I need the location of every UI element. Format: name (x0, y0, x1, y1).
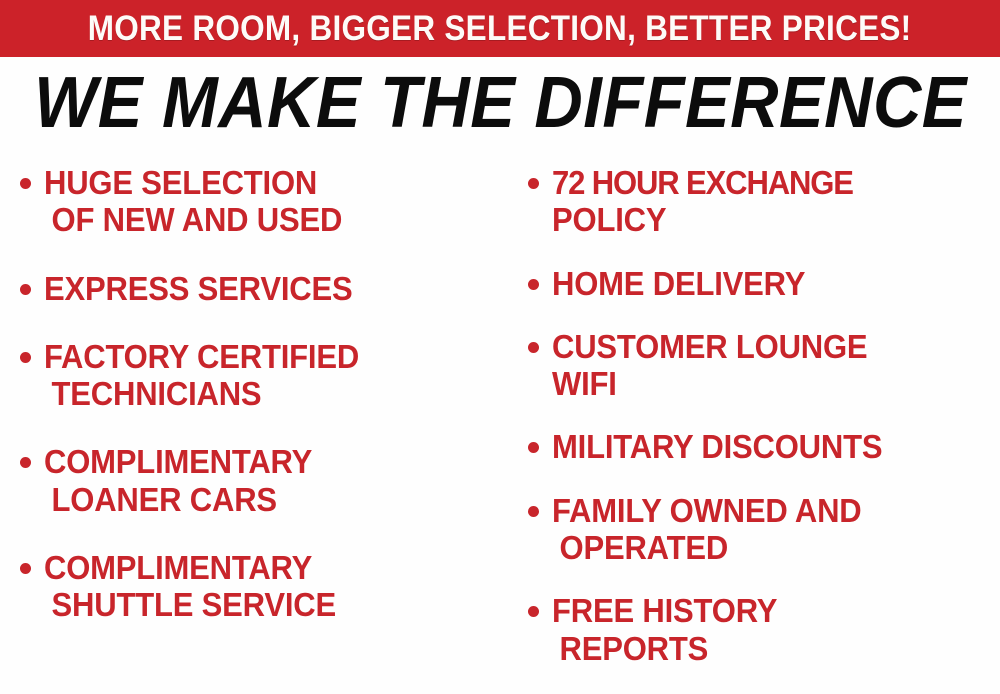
bullet-dot-icon (20, 457, 31, 468)
list-item-text: MILITARY DISCOUNTS (552, 428, 1000, 465)
list-item: COMPLIMENTARY LOANER CARS (20, 443, 510, 518)
list-item: MILITARY DISCOUNTS (528, 428, 1000, 465)
list-item-text: 72 HOUR EXCHANGE POLICY (552, 164, 1000, 239)
benefits-columns: HUGE SELECTION OF NEW AND USED EXPRESS S… (0, 152, 1000, 694)
list-item-line-2: OF NEW AND USED (44, 201, 482, 238)
list-item: COMPLIMENTARY SHUTTLE SERVICE (20, 549, 510, 624)
list-item-text: HOME DELIVERY (552, 265, 1000, 302)
list-item-line-1: FACTORY CERTIFIED (44, 338, 482, 375)
list-item-line-1: HUGE SELECTION (44, 164, 482, 201)
list-item-text: FREE HISTORY REPORTS (552, 592, 1000, 667)
list-item-line-1: 72 HOUR EXCHANGE (552, 164, 973, 201)
list-item-text: FACTORY CERTIFIED TECHNICIANS (44, 338, 510, 413)
list-item: 72 HOUR EXCHANGE POLICY (528, 164, 1000, 239)
list-item-line-1: FREE HISTORY (552, 592, 973, 629)
bullet-dot-icon (528, 342, 539, 353)
bullet-dot-icon (20, 178, 31, 189)
bullet-dot-icon (528, 606, 539, 617)
bullet-dot-icon (20, 563, 31, 574)
banner-headline-text: MORE ROOM, BIGGER SELECTION, BETTER PRIC… (88, 11, 912, 46)
list-item-text: FAMILY OWNED AND OPERATED (552, 492, 1000, 567)
page-title: WE MAKE THE DIFFERENCE (34, 67, 967, 139)
list-item-line-1: FAMILY OWNED AND (552, 492, 973, 529)
list-item: FREE HISTORY REPORTS (528, 592, 1000, 667)
bullet-dot-icon (528, 506, 539, 517)
list-item-line-2: OPERATED (552, 529, 973, 566)
list-item-line-2: LOANER CARS (44, 481, 482, 518)
list-item-text: HUGE SELECTION OF NEW AND USED (44, 164, 510, 239)
list-item-text: CUSTOMER LOUNGE WIFI (552, 328, 1000, 403)
list-item-text: COMPLIMENTARY LOANER CARS (44, 443, 510, 518)
list-item: HOME DELIVERY (528, 265, 1000, 302)
headline-container: WE MAKE THE DIFFERENCE (0, 66, 1000, 140)
list-item-line-1: MILITARY DISCOUNTS (552, 428, 973, 465)
list-item-line-2: POLICY (552, 201, 973, 238)
list-item-line-2: REPORTS (552, 630, 973, 667)
benefits-column-left: HUGE SELECTION OF NEW AND USED EXPRESS S… (0, 152, 510, 694)
bullet-dot-icon (528, 442, 539, 453)
list-item-line-2: TECHNICIANS (44, 375, 482, 412)
bullet-dot-icon (20, 284, 31, 295)
list-item: HUGE SELECTION OF NEW AND USED (20, 164, 510, 239)
list-item-line-1: HOME DELIVERY (552, 265, 973, 302)
bullet-dot-icon (528, 279, 539, 290)
top-banner: MORE ROOM, BIGGER SELECTION, BETTER PRIC… (0, 0, 1000, 57)
list-item: FAMILY OWNED AND OPERATED (528, 492, 1000, 567)
bullet-dot-icon (528, 178, 539, 189)
list-item-line-1: COMPLIMENTARY (44, 549, 482, 586)
list-item-line-1: CUSTOMER LOUNGE (552, 328, 973, 365)
list-item: CUSTOMER LOUNGE WIFI (528, 328, 1000, 403)
list-item-text: EXPRESS SERVICES (44, 270, 510, 307)
bullet-dot-icon (20, 352, 31, 363)
list-item-line-2: WIFI (552, 365, 973, 402)
benefits-column-right: 72 HOUR EXCHANGE POLICY HOME DELIVERY CU… (510, 152, 1000, 694)
list-item-text: COMPLIMENTARY SHUTTLE SERVICE (44, 549, 510, 624)
list-item: EXPRESS SERVICES (20, 270, 510, 307)
list-item-line-1: COMPLIMENTARY (44, 443, 482, 480)
list-item-line-1: EXPRESS SERVICES (44, 270, 482, 307)
promo-poster: MORE ROOM, BIGGER SELECTION, BETTER PRIC… (0, 0, 1000, 694)
list-item-line-2: SHUTTLE SERVICE (44, 586, 482, 623)
list-item: FACTORY CERTIFIED TECHNICIANS (20, 338, 510, 413)
